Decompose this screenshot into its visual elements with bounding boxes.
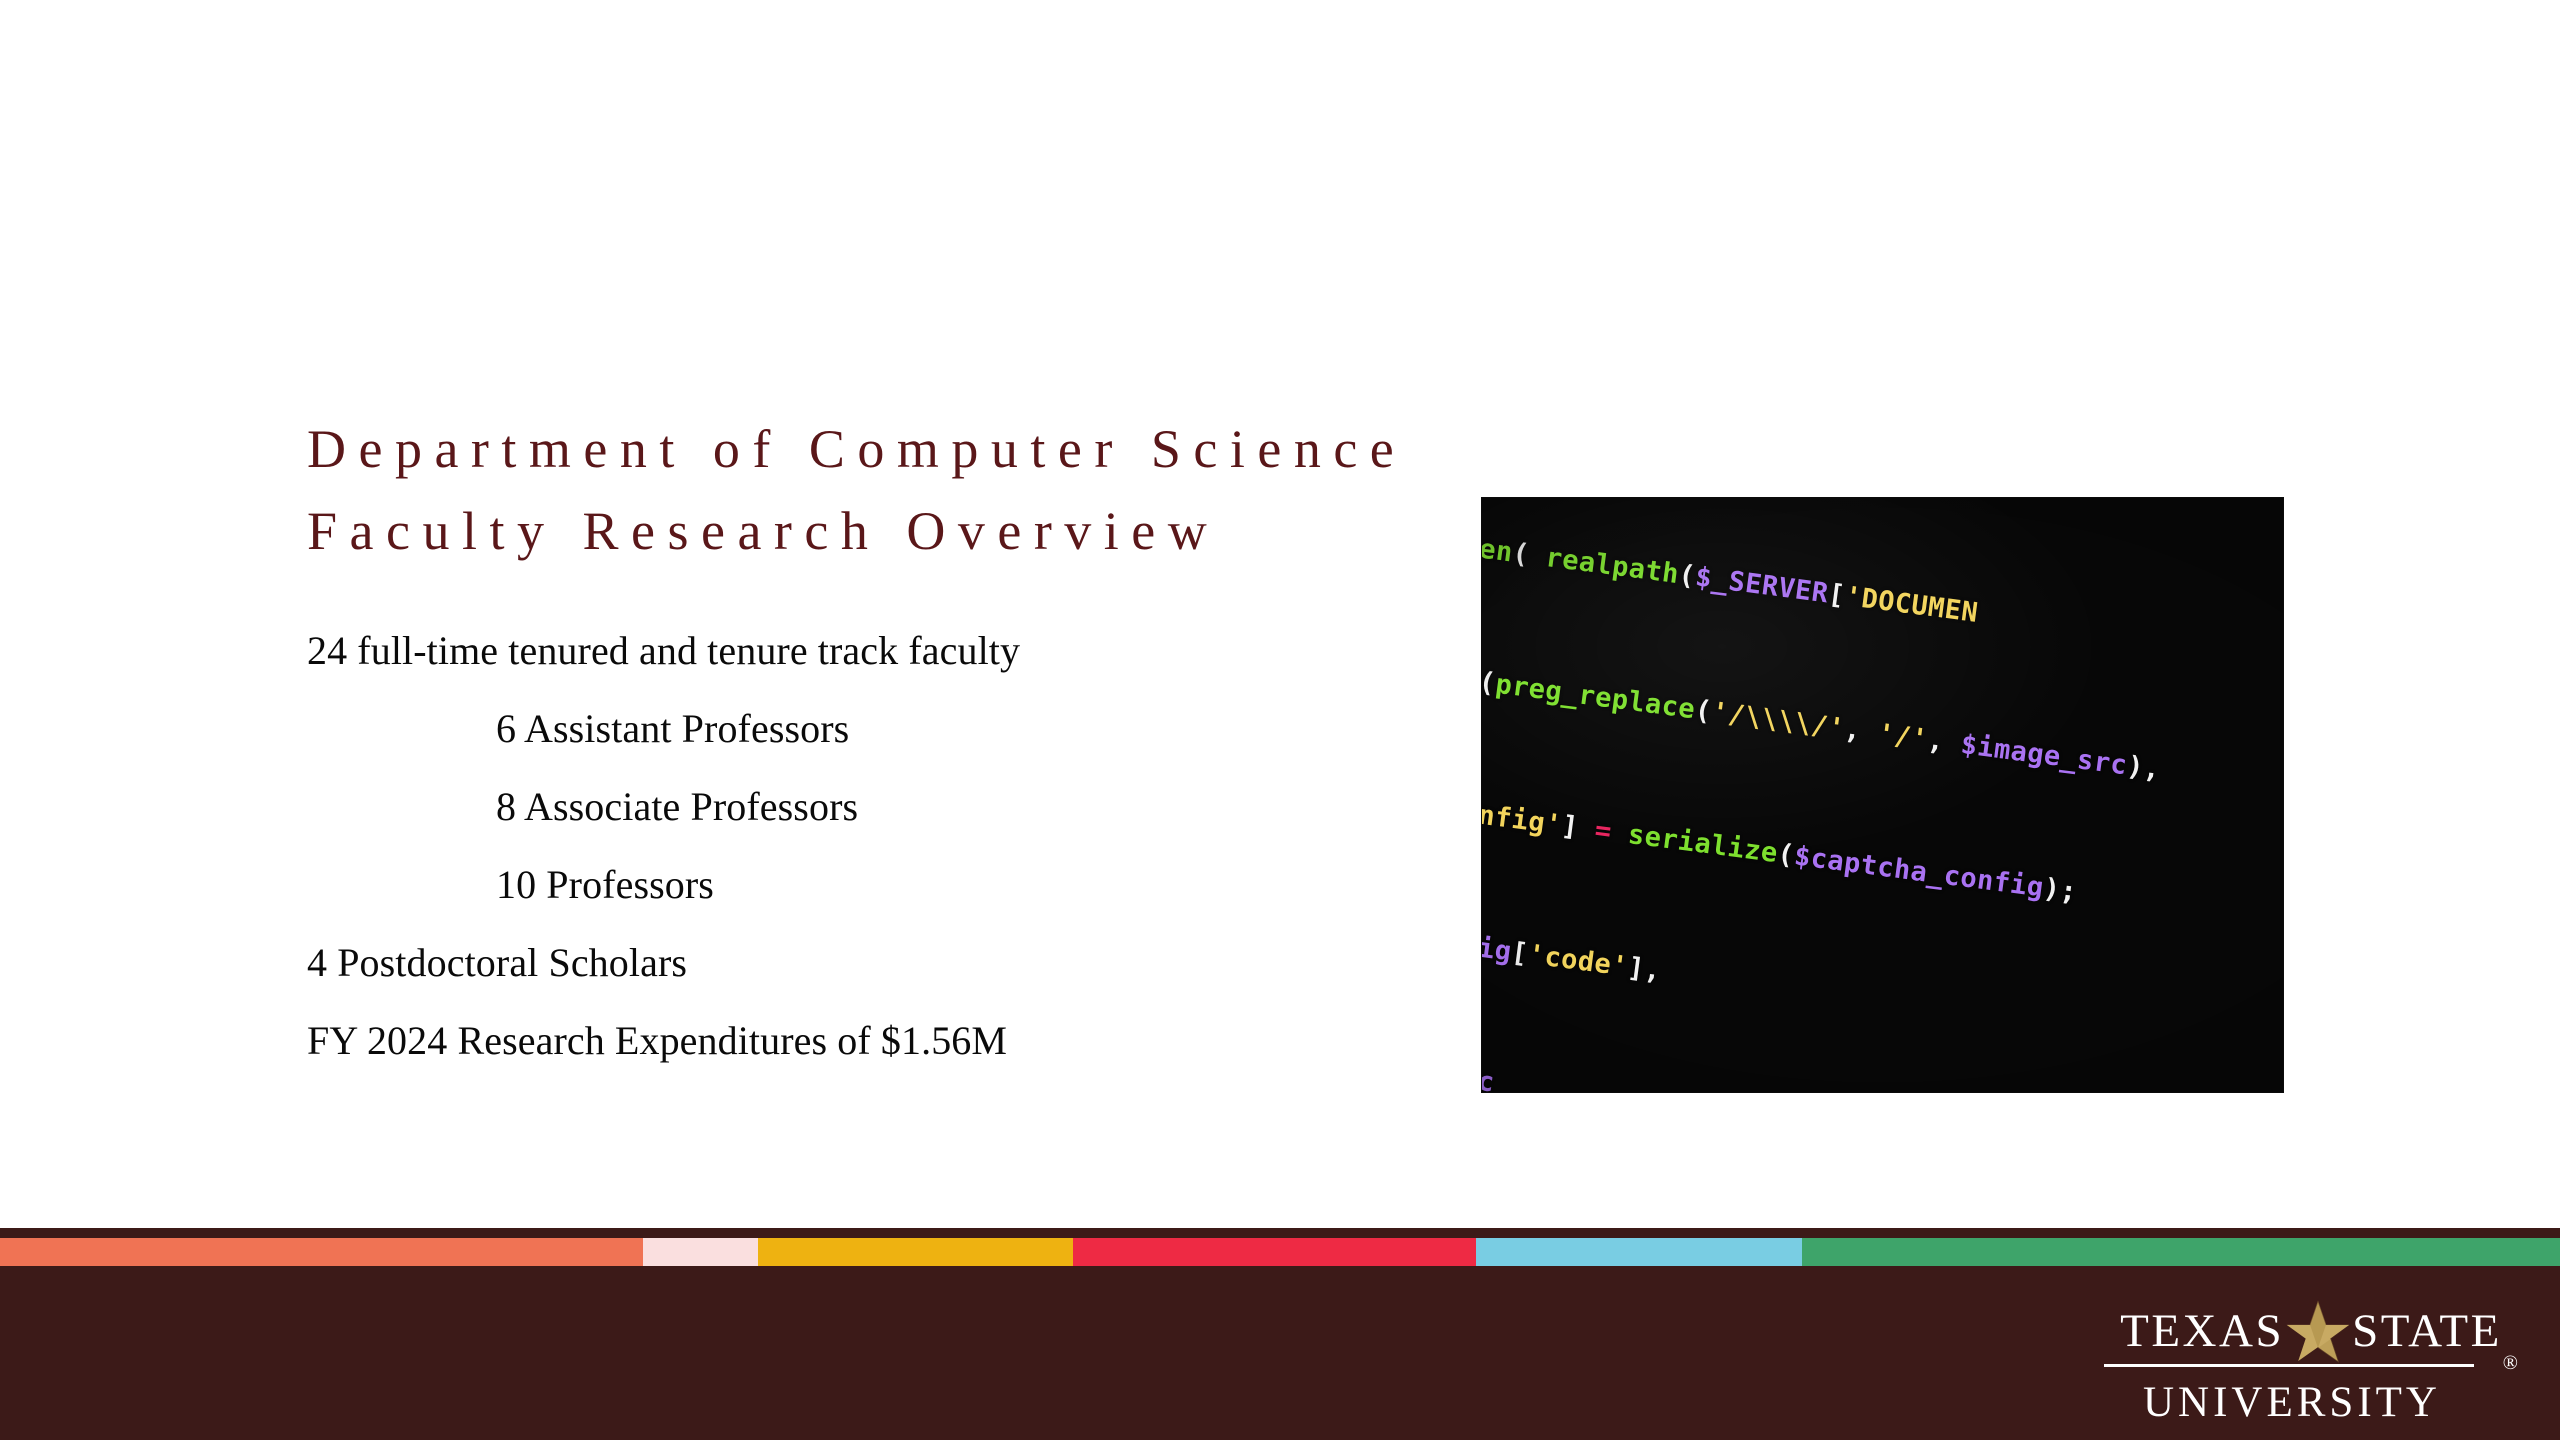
logo-top-row: TEXAS STATE xyxy=(2096,1302,2526,1360)
logo-divider-row: ® xyxy=(2096,1360,2526,1372)
bullet-list: 24 full-time tenured and tenure track fa… xyxy=(307,612,1427,1080)
accent-color-strip xyxy=(0,1238,2560,1266)
bullet-item-associate-professors: 8 Associate Professors xyxy=(307,768,1427,846)
page-title: Department of Computer Science Faculty R… xyxy=(307,408,1507,572)
bullet-item-professors: 10 Professors xyxy=(307,846,1427,924)
code-line-4: ptcha_config['code'], xyxy=(1482,905,2283,1092)
accent-segment-pale-pink xyxy=(643,1238,758,1266)
registered-trademark-icon: ® xyxy=(2503,1353,2518,1373)
bullet-item-research-expenditures: FY 2024 Research Expenditures of $1.56M xyxy=(307,1002,1427,1080)
accent-segment-salmon xyxy=(0,1238,643,1266)
title-line-2: Faculty Research Overview xyxy=(307,490,1507,572)
accent-segment-sky-blue xyxy=(1476,1238,1802,1266)
accent-segment-gold xyxy=(758,1238,1073,1266)
accent-segment-crimson xyxy=(1073,1238,1476,1266)
logo-divider-line xyxy=(2104,1364,2474,1367)
texas-state-university-logo: TEXAS STATE ® UNIVERSITY xyxy=(2096,1302,2526,1424)
code-line-3: CHA']['config'] = serialize($captcha_con… xyxy=(1482,774,2283,970)
star-icon xyxy=(2282,1299,2354,1365)
logo-word-texas: TEXAS xyxy=(2120,1308,2284,1355)
logo-word-state: STATE xyxy=(2352,1308,2502,1355)
code-text-block: _) strlen( realpath($_SERVER['DOCUMEN . … xyxy=(1482,498,2283,1092)
logo-word-university: UNIVERSITY xyxy=(2096,1372,2526,1427)
bullet-item-assistant-professors: 6 Assistant Professors xyxy=(307,690,1427,768)
bullet-item-faculty-total: 24 full-time tenured and tenure track fa… xyxy=(307,612,1427,690)
title-line-1: Department of Computer Science xyxy=(307,408,1507,490)
slide-canvas: Department of Computer Science Faculty R… xyxy=(0,0,2560,1440)
accent-segment-green xyxy=(1802,1238,2560,1266)
code-screenshot-image: _) strlen( realpath($_SERVER['DOCUMEN . … xyxy=(1482,498,2283,1092)
bullet-item-postdocs: 4 Postdoctoral Scholars xyxy=(307,924,1427,1002)
